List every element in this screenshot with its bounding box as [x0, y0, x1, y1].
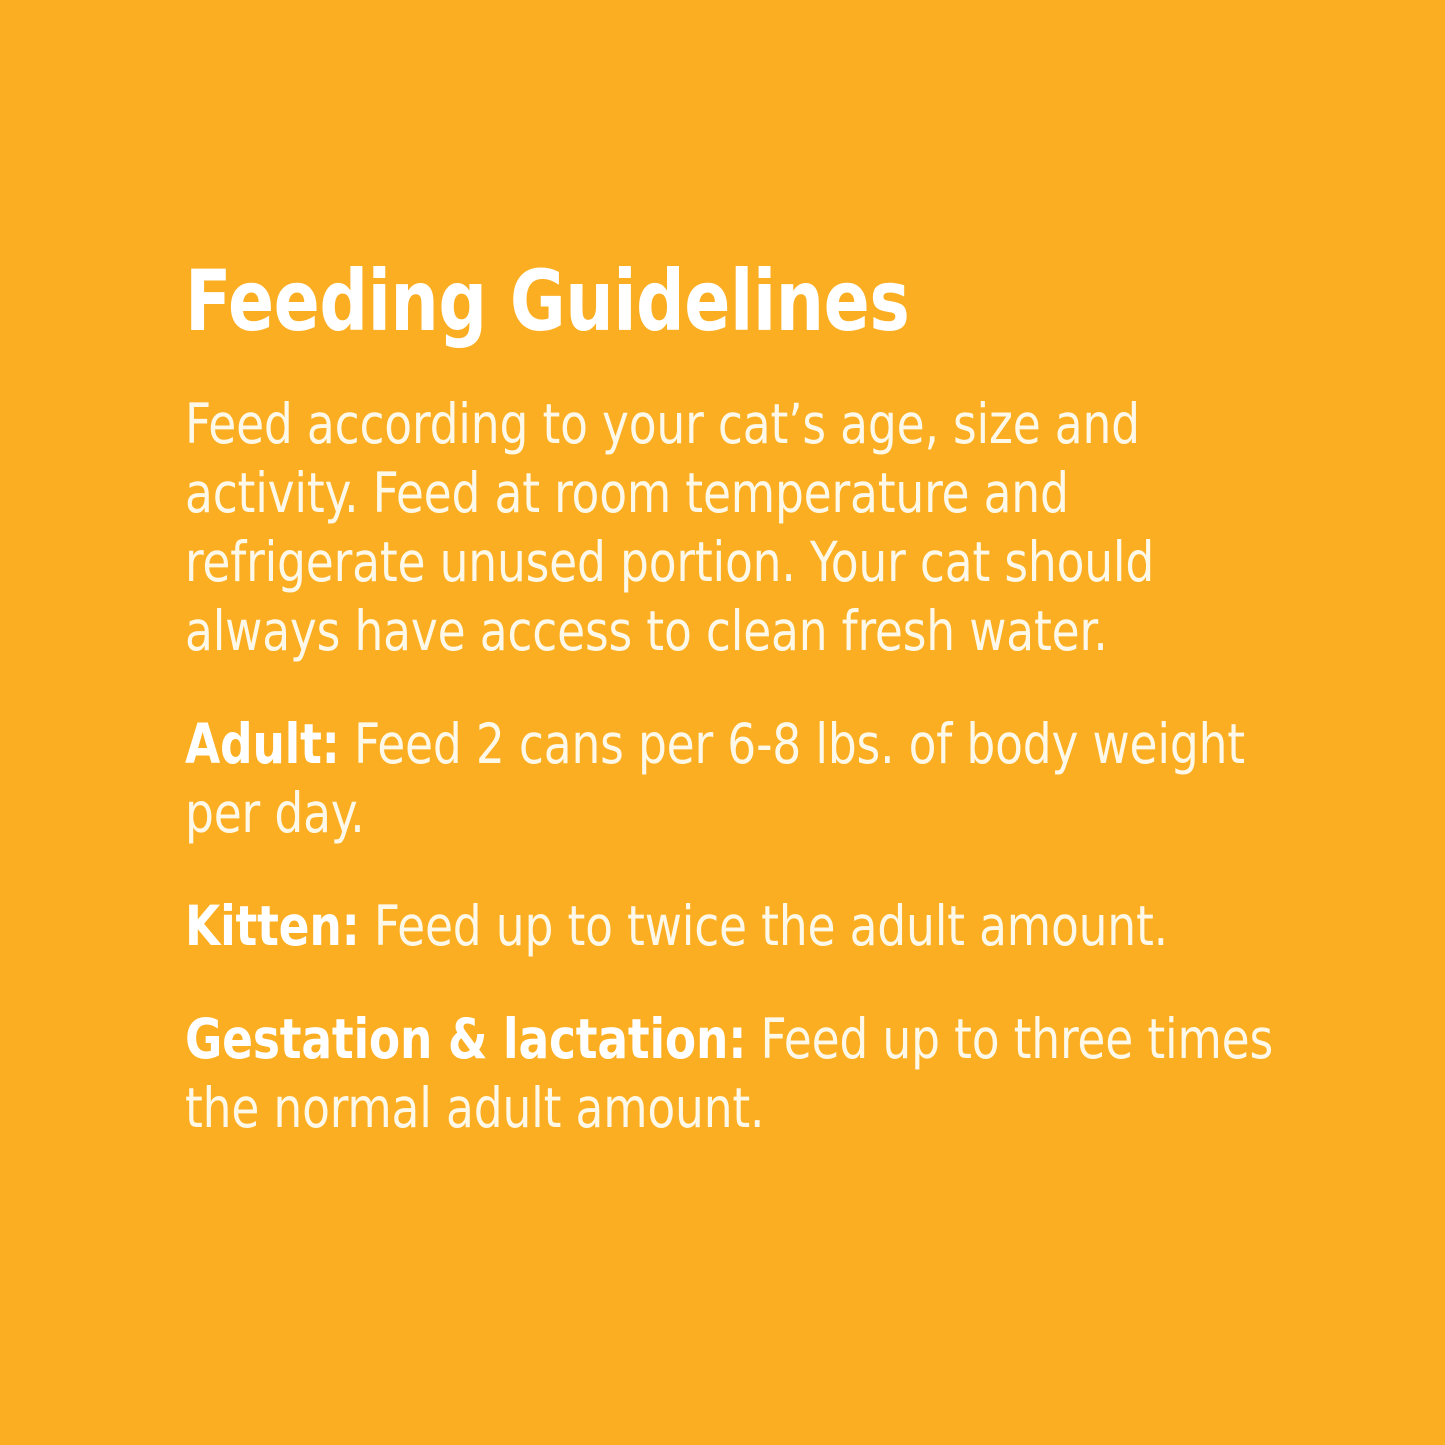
guideline-gestation-lactation-label: Gestation & lactation: [185, 1007, 746, 1071]
intro-paragraph: Feed according to your cat’s age, size a… [185, 390, 1273, 666]
guideline-kitten: Kitten: Feed up to twice the adult amoun… [185, 892, 1273, 961]
guideline-gestation-lactation: Gestation & lactation: Feed up to three … [185, 1005, 1273, 1143]
guideline-adult-label: Adult: [185, 712, 340, 776]
page-title: Feeding Guidelines [185, 258, 1166, 344]
content-column: Feeding Guidelines Feed according to you… [185, 258, 1275, 1143]
guideline-adult: Adult: Feed 2 cans per 6-8 lbs. of body … [185, 710, 1273, 848]
guideline-kitten-label: Kitten: [185, 894, 360, 958]
guideline-adult-text: Feed 2 cans per 6-8 lbs. of body weight … [185, 712, 1245, 845]
guideline-kitten-text: Feed up to twice the adult amount. [360, 894, 1168, 958]
feeding-guidelines-panel: Feeding Guidelines Feed according to you… [0, 0, 1445, 1445]
